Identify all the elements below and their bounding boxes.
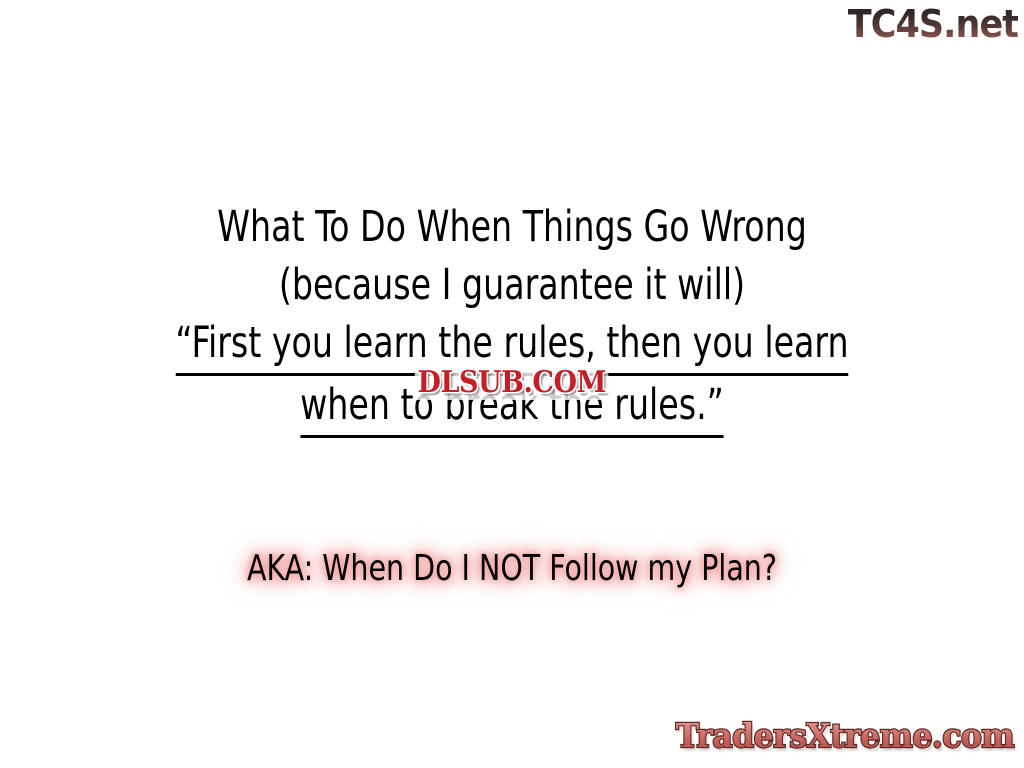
title-line-1: What To Do When Things Go Wrong	[72, 198, 953, 256]
title-line-3-text: “First you learn the rules, then you lea…	[175, 314, 848, 376]
title-line-2: (because I guarantee it will)	[72, 256, 953, 314]
tradersxtreme-logo-fill: TradersXtreme.com	[676, 716, 1014, 755]
title-line-2-text: (because I guarantee it will)	[279, 260, 745, 310]
tradersxtreme-brand-logo: TradersXtreme.com TradersXtreme.com	[676, 716, 1014, 756]
title-line-4-text: when to break the rules.”	[300, 376, 724, 438]
tc4s-brand-logo: TC4S.net	[848, 2, 1018, 46]
slide-title-block: What To Do When Things Go Wrong (because…	[0, 198, 1024, 438]
slide-canvas: TC4S.net What To Do When Things Go Wrong…	[0, 0, 1024, 768]
subtitle-aka-line: AKA: When Do I NOT Follow my Plan?	[61, 545, 962, 593]
title-line-1-text: What To Do When Things Go Wrong	[217, 202, 807, 252]
title-line-3: “First you learn the rules, then you lea…	[72, 314, 953, 376]
title-line-4: when to break the rules.”	[72, 376, 953, 438]
